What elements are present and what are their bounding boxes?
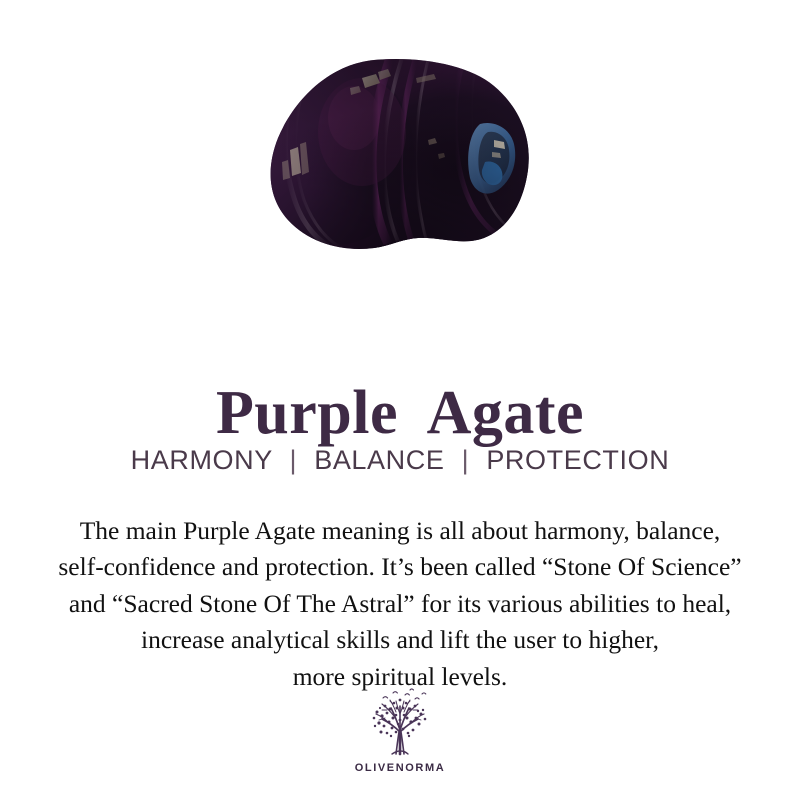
keyword-separator: | bbox=[280, 445, 306, 475]
keyword-harmony: HARMONY bbox=[131, 445, 273, 475]
page-title: Purple Agate bbox=[0, 378, 800, 448]
brand-wordmark: OLIVENORMA bbox=[0, 762, 800, 774]
purple-agate-stone-image bbox=[266, 58, 534, 258]
keyword-balance: BALANCE bbox=[314, 445, 444, 475]
stone-image-container bbox=[0, 58, 800, 263]
description-line: The main Purple Agate meaning is all abo… bbox=[0, 513, 800, 550]
purple-agate-info-card: Purple Agate HARMONY | BALANCE | PROTECT… bbox=[0, 0, 800, 800]
description-line: self-confidence and protection. It’s bee… bbox=[0, 549, 800, 586]
keyword-list: HARMONY | BALANCE | PROTECTION bbox=[0, 443, 800, 477]
tree-birds bbox=[383, 689, 426, 699]
tree-of-life-icon bbox=[363, 688, 437, 760]
brand-logo: OLIVENORMA bbox=[0, 688, 800, 774]
description-line: increase analytical skills and lift the … bbox=[0, 622, 800, 659]
description-line: and “Sacred Stone Of The Astral” for its… bbox=[0, 586, 800, 623]
keyword-separator: | bbox=[453, 445, 479, 475]
keyword-protection: PROTECTION bbox=[486, 445, 669, 475]
description-paragraph: The main Purple Agate meaning is all abo… bbox=[0, 513, 800, 696]
stone-body bbox=[266, 58, 534, 258]
